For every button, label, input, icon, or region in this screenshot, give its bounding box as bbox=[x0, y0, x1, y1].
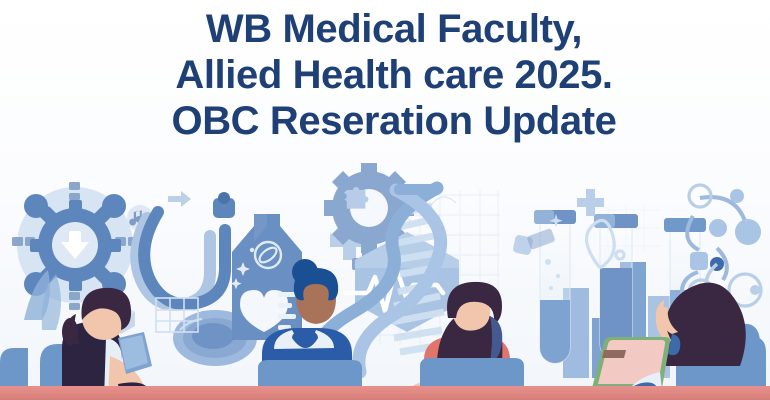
title-line-1: WB Medical Faculty, bbox=[18, 6, 770, 52]
banner-title: WB Medical Faculty, Allied Health care 2… bbox=[0, 6, 770, 144]
gear-network-hub-icon bbox=[12, 182, 138, 310]
medicine-bottle-icon bbox=[230, 214, 302, 340]
music-note-icon bbox=[127, 205, 153, 231]
arrow-right-icon bbox=[168, 191, 191, 207]
desk-surface bbox=[0, 386, 770, 400]
title-line-3: OBC Reseration Update bbox=[18, 98, 770, 144]
person-reading-tablet bbox=[40, 288, 152, 400]
petri-dish-icon bbox=[173, 310, 257, 366]
ribbon-loop-icon bbox=[587, 220, 624, 268]
cube-icon bbox=[107, 304, 135, 334]
sparkle-icon bbox=[230, 248, 254, 289]
pill-icon bbox=[255, 242, 281, 268]
heartbeat-hexagon-icon bbox=[346, 232, 459, 332]
graph-grid-icon bbox=[375, 190, 500, 345]
test-tube-icon bbox=[534, 210, 706, 363]
shape-block-icon bbox=[512, 234, 533, 255]
puzzle-piece-icon bbox=[344, 187, 369, 209]
molecule-network-icon bbox=[682, 185, 761, 306]
person-coral-top bbox=[404, 282, 524, 400]
person-at-laptop-profile bbox=[578, 283, 766, 400]
stethoscope-icon bbox=[136, 192, 235, 305]
dna-helix-icon bbox=[312, 184, 482, 374]
download-arrow-icon bbox=[61, 231, 89, 259]
sparkle-right-icon bbox=[549, 214, 562, 227]
medical-cross-small-icon bbox=[577, 189, 604, 216]
window-grid-icon bbox=[156, 298, 198, 332]
banner-container: WB Medical Faculty, Allied Health care 2… bbox=[0, 0, 770, 400]
gear-icon bbox=[324, 163, 414, 272]
plant-leaf-icon bbox=[24, 270, 61, 330]
accent-bars-icon bbox=[526, 228, 555, 250]
graph-grid-secondary bbox=[600, 205, 660, 252]
medical-cross-icon bbox=[330, 221, 369, 260]
bar-chart-icon bbox=[563, 262, 670, 378]
person-blue-uniform bbox=[258, 259, 362, 400]
title-line-2: Allied Health care 2025. bbox=[18, 52, 770, 98]
